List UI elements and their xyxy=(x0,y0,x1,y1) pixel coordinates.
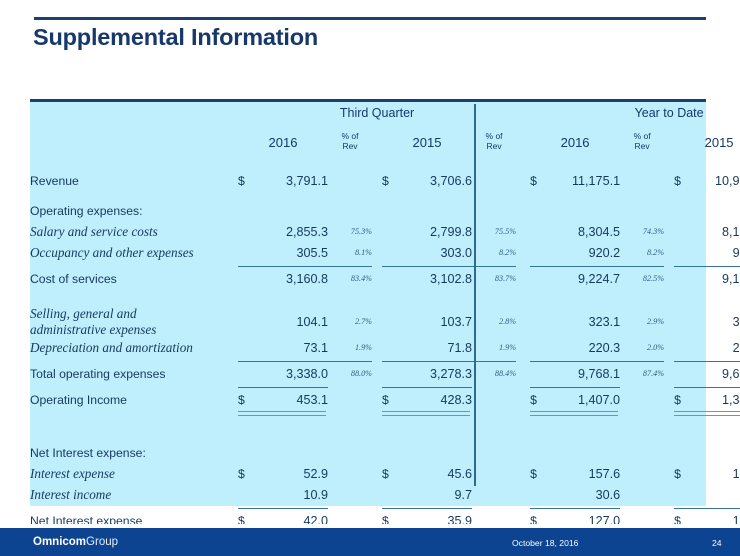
pct-dep-y16: 2.0% xyxy=(620,337,664,358)
divgap-toe xyxy=(516,363,530,384)
currency-toe-q15 xyxy=(382,363,398,384)
row-label-interest-income: Interest income xyxy=(30,484,238,505)
col-header-q-2015-pct: % of Rev xyxy=(472,127,516,157)
value-salary-y15: 8,159.8 xyxy=(690,221,740,242)
value-dep-q15: 71.8 xyxy=(398,337,472,358)
currency-revenue-y16: $ xyxy=(530,170,546,191)
gap-toe-1 xyxy=(372,363,382,384)
value-dep-q16: 73.1 xyxy=(254,337,328,358)
currency-ie-q16: $ xyxy=(238,463,254,484)
col-gap-1 xyxy=(372,127,382,157)
pct-ii-q15 xyxy=(472,484,516,505)
divgap-cos xyxy=(516,268,530,289)
value-revenue-q16: 3,791.1 xyxy=(254,170,328,191)
currency-revenue-y15: $ xyxy=(674,170,690,191)
pct-sga-y16: 2.9% xyxy=(620,306,664,337)
currency-ie-q15: $ xyxy=(382,463,398,484)
currency-ii-q15 xyxy=(382,484,398,505)
pct-ii-y16 xyxy=(620,484,664,505)
value-cos-q15: 3,102.8 xyxy=(398,268,472,289)
pct-oi-y16 xyxy=(620,389,664,410)
value-toe-y16: 9,768.1 xyxy=(546,363,620,384)
col-header-q-2015: 2015 xyxy=(382,127,472,157)
spacer-cell-4 xyxy=(30,416,740,442)
table-row-operating-expenses-header: Operating expenses: xyxy=(30,200,740,221)
value-oi-q15: 428.3 xyxy=(398,389,472,410)
gap-toe-2 xyxy=(664,363,674,384)
pct-sga-q15: 2.8% xyxy=(472,306,516,337)
col-divider-gap xyxy=(516,127,530,157)
currency-sga-q16 xyxy=(238,306,254,337)
table-row-revenue: Revenue $ 3,791.1 $ 3,706.6 $ 11,175.1 $… xyxy=(30,170,740,191)
logo-text-light: Group xyxy=(86,536,118,548)
gap-ii-2 xyxy=(664,484,674,505)
divgap-ii xyxy=(516,484,530,505)
currency-salary-q15 xyxy=(382,221,398,242)
gap-occupancy-2 xyxy=(664,242,674,263)
gap-cos-1 xyxy=(372,268,382,289)
divgap-revenue xyxy=(516,170,530,191)
currency-sga-y15 xyxy=(674,306,690,337)
value-cos-y16: 9,224.7 xyxy=(546,268,620,289)
value-ii-y15: 29.3 xyxy=(690,484,740,505)
value-occupancy-y15: 942.0 xyxy=(690,242,740,263)
gap-oi-1 xyxy=(372,389,382,410)
page-number: 24 xyxy=(712,538,722,548)
table-row-cost-of-services: Cost of services 3,160.8 83.4% 3,102.8 8… xyxy=(30,268,740,289)
value-revenue-y16: 11,175.1 xyxy=(546,170,620,191)
currency-ie-y15: $ xyxy=(674,463,690,484)
pct-toe-q16: 88.0% xyxy=(328,363,372,384)
currency-cos-y16 xyxy=(530,268,546,289)
empty-corner xyxy=(30,102,238,124)
divgap-ie xyxy=(516,463,530,484)
currency-toe-y16 xyxy=(530,363,546,384)
currency-cos-y15 xyxy=(674,268,690,289)
currency-occupancy-y15 xyxy=(674,242,690,263)
divgap-oi xyxy=(516,389,530,410)
currency-oi-q15: $ xyxy=(382,389,398,410)
pct-toe-y16: 87.4% xyxy=(620,363,664,384)
gap-revenue-2 xyxy=(664,170,674,191)
currency-salary-q16 xyxy=(238,221,254,242)
value-salary-q16: 2,855.3 xyxy=(254,221,328,242)
value-toe-q16: 3,338.0 xyxy=(254,363,328,384)
currency-oi-y15: $ xyxy=(674,389,690,410)
value-oi-y15: 1,344.6 xyxy=(690,389,740,410)
row-label-operating-income: Operating Income xyxy=(30,389,238,410)
pct-dep-q15: 1.9% xyxy=(472,337,516,358)
value-dep-y15: 218.7 xyxy=(690,337,740,358)
table-row-operating-income: Operating Income $ 453.1 $ 428.3 $ 1,407… xyxy=(30,389,740,410)
currency-ii-q16 xyxy=(238,484,254,505)
pct-header-line2-b: Rev xyxy=(486,141,501,151)
pct-ie-q16 xyxy=(328,463,372,484)
pct-header-line1-c: % of xyxy=(634,131,651,141)
gap-sga-2 xyxy=(664,306,674,337)
empty-corner-2 xyxy=(30,127,238,157)
divgap-sga xyxy=(516,306,530,337)
pct-header-line2: Rev xyxy=(342,141,357,151)
gap-dep-2 xyxy=(664,337,674,358)
row-label-sga: Selling, general and administrative expe… xyxy=(30,306,238,337)
title-divider-rule xyxy=(34,17,706,20)
col-header-q-2016: 2016 xyxy=(238,127,328,157)
omnicom-group-logo: OmnicomGroup xyxy=(33,536,118,548)
currency-sga-y16 xyxy=(530,306,546,337)
spacer-after-revenue xyxy=(30,191,740,200)
currency-oi-q16: $ xyxy=(238,389,254,410)
pct-occupancy-q15: 8.2% xyxy=(472,242,516,263)
pct-sga-q16: 2.7% xyxy=(328,306,372,337)
value-toe-q15: 3,278.3 xyxy=(398,363,472,384)
currency-ie-y16: $ xyxy=(530,463,546,484)
value-dep-y16: 220.3 xyxy=(546,337,620,358)
gap-dep-1 xyxy=(372,337,382,358)
pct-header-line1: % of xyxy=(341,131,358,141)
pct-toe-q15: 88.4% xyxy=(472,363,516,384)
gap-salary-2 xyxy=(664,221,674,242)
pct-ie-y16 xyxy=(620,463,664,484)
pct-header-line2-c: Rev xyxy=(635,141,650,151)
value-ie-y16: 157.6 xyxy=(546,463,620,484)
table-column-header-row: 2016 % of Rev 2015 % of Rev 2016 % of Re… xyxy=(30,127,740,157)
row-label-net-interest-header: Net Interest expense: xyxy=(30,442,238,463)
currency-dep-y15 xyxy=(674,337,690,358)
table-row-interest-expense: Interest expense $ 52.9 $ 45.6 $ 157.6 $… xyxy=(30,463,740,484)
table-group-header-row: Third Quarter Year to Date xyxy=(30,102,740,124)
col-header-q-2016-pct: % of Rev xyxy=(328,127,372,157)
spacer-cell-2 xyxy=(30,191,740,200)
table-row-total-operating-expenses: Total operating expenses 3,338.0 88.0% 3… xyxy=(30,363,740,384)
value-ii-y16: 30.6 xyxy=(546,484,620,505)
value-occupancy-q16: 305.5 xyxy=(254,242,328,263)
pct-header-line1-b: % of xyxy=(486,131,503,141)
pct-salary-q16: 75.3% xyxy=(328,221,372,242)
value-sga-y16: 323.1 xyxy=(546,306,620,337)
currency-ii-y15 xyxy=(674,484,690,505)
value-salary-y16: 8,304.5 xyxy=(546,221,620,242)
currency-salary-y15 xyxy=(674,221,690,242)
gap-ie-2 xyxy=(664,463,674,484)
pct-cos-q16: 83.4% xyxy=(328,268,372,289)
gap-sga-1 xyxy=(372,306,382,337)
currency-dep-y16 xyxy=(530,337,546,358)
value-toe-y15: 9,636.5 xyxy=(690,363,740,384)
col-header-y-2016-pct: % of Rev xyxy=(620,127,664,157)
pct-salary-q15: 75.5% xyxy=(472,221,516,242)
pct-occupancy-q16: 8.1% xyxy=(328,242,372,263)
divgap-salary xyxy=(516,221,530,242)
page-title: Supplemental Information xyxy=(33,24,318,51)
currency-dep-q16 xyxy=(238,337,254,358)
row-label-operating-expenses: Operating expenses: xyxy=(30,200,238,221)
value-sga-q16: 104.1 xyxy=(254,306,328,337)
currency-occupancy-y16 xyxy=(530,242,546,263)
section-vertical-divider xyxy=(474,104,476,486)
currency-cos-q15 xyxy=(382,268,398,289)
value-occupancy-y16: 920.2 xyxy=(546,242,620,263)
table-row-depreciation: Depreciation and amortization 73.1 1.9% … xyxy=(30,337,740,358)
value-sga-q15: 103.7 xyxy=(398,306,472,337)
pct-cos-q15: 83.7% xyxy=(472,268,516,289)
row-label-occupancy: Occupancy and other expenses xyxy=(30,242,238,263)
pct-occupancy-y16: 8.2% xyxy=(620,242,664,263)
row-label-interest-expense: Interest expense xyxy=(30,463,238,484)
currency-toe-q16 xyxy=(238,363,254,384)
value-ie-q15: 45.6 xyxy=(398,463,472,484)
pct-revenue-y16 xyxy=(620,170,664,191)
table-row-salary: Salary and service costs 2,855.3 75.3% 2… xyxy=(30,221,740,242)
value-sga-y15: 316.0 xyxy=(690,306,740,337)
currency-oi-y16: $ xyxy=(530,389,546,410)
value-ie-y15: 134.0 xyxy=(690,463,740,484)
row-label-total-operating-expenses: Total operating expenses xyxy=(30,363,238,384)
table-row-interest-income: Interest income 10.9 9.7 30.6 29.3 xyxy=(30,484,740,505)
pct-revenue-q16 xyxy=(328,170,372,191)
divgap-occupancy xyxy=(516,242,530,263)
value-oi-y16: 1,407.0 xyxy=(546,389,620,410)
row-label-sga-line1: Selling, general and xyxy=(30,306,137,321)
value-ii-q16: 10.9 xyxy=(254,484,328,505)
operating-expenses-header-blank xyxy=(238,200,740,221)
value-ie-q16: 52.9 xyxy=(254,463,328,484)
pct-revenue-q15 xyxy=(472,170,516,191)
value-revenue-y15: 10,981.1 xyxy=(690,170,740,191)
gap-ie-1 xyxy=(372,463,382,484)
spacer-before-net-interest xyxy=(30,416,740,442)
gap-salary-1 xyxy=(372,221,382,242)
pct-dep-q16: 1.9% xyxy=(328,337,372,358)
row-label-depreciation: Depreciation and amortization xyxy=(30,337,238,358)
value-cos-y15: 9,101.8 xyxy=(690,268,740,289)
currency-occupancy-q16 xyxy=(238,242,254,263)
col-gap-2 xyxy=(664,127,674,157)
value-occupancy-q15: 303.0 xyxy=(398,242,472,263)
spacer-after-header xyxy=(30,161,740,170)
footer-date: October 18, 2016 xyxy=(512,538,578,548)
spacer-after-cost-of-services xyxy=(30,289,740,306)
table-row-occupancy: Occupancy and other expenses 305.5 8.1% … xyxy=(30,242,740,263)
net-interest-header-blank xyxy=(238,442,740,463)
financial-table: Third Quarter Year to Date 2016 % of Rev… xyxy=(30,102,740,537)
table-row-net-interest-header: Net Interest expense: xyxy=(30,442,740,463)
col-header-y-2015: 2015 xyxy=(674,127,740,157)
value-oi-q16: 453.1 xyxy=(254,389,328,410)
gap-cos-2 xyxy=(664,268,674,289)
currency-toe-y15 xyxy=(674,363,690,384)
value-revenue-q15: 3,706.6 xyxy=(398,170,472,191)
pct-oi-q16 xyxy=(328,389,372,410)
row-label-sga-line2: administrative expenses xyxy=(30,322,156,337)
currency-dep-q15 xyxy=(382,337,398,358)
pct-ie-q15 xyxy=(472,463,516,484)
currency-occupancy-q15 xyxy=(382,242,398,263)
currency-sga-q15 xyxy=(382,306,398,337)
gap-occupancy-1 xyxy=(372,242,382,263)
currency-revenue-q16: $ xyxy=(238,170,254,191)
row-label-salary: Salary and service costs xyxy=(30,221,238,242)
table-row-sga: Selling, general and administrative expe… xyxy=(30,306,740,337)
currency-revenue-q15: $ xyxy=(382,170,398,191)
pct-salary-y16: 74.3% xyxy=(620,221,664,242)
currency-ii-y16 xyxy=(530,484,546,505)
row-label-revenue: Revenue xyxy=(30,170,238,191)
pct-cos-y16: 82.5% xyxy=(620,268,664,289)
spacer-cell xyxy=(30,161,740,170)
divgap-dep xyxy=(516,337,530,358)
value-cos-q16: 3,160.8 xyxy=(254,268,328,289)
col-header-y-2016: 2016 xyxy=(530,127,620,157)
supplemental-information-table-panel: Third Quarter Year to Date 2016 % of Rev… xyxy=(30,99,706,506)
pct-oi-q15 xyxy=(472,389,516,410)
value-ii-q15: 9.7 xyxy=(398,484,472,505)
gap-oi-2 xyxy=(664,389,674,410)
gap-revenue-1 xyxy=(372,170,382,191)
row-label-cost-of-services: Cost of services xyxy=(30,268,238,289)
header-divider-spacer xyxy=(516,102,530,124)
value-salary-q15: 2,799.8 xyxy=(398,221,472,242)
currency-salary-y16 xyxy=(530,221,546,242)
pct-ii-q16 xyxy=(328,484,372,505)
gap-ii-1 xyxy=(372,484,382,505)
logo-text-bold: Omnicom xyxy=(33,536,86,548)
spacer-cell-3 xyxy=(30,289,740,306)
group-header-year-to-date: Year to Date xyxy=(530,102,740,124)
currency-cos-q16 xyxy=(238,268,254,289)
